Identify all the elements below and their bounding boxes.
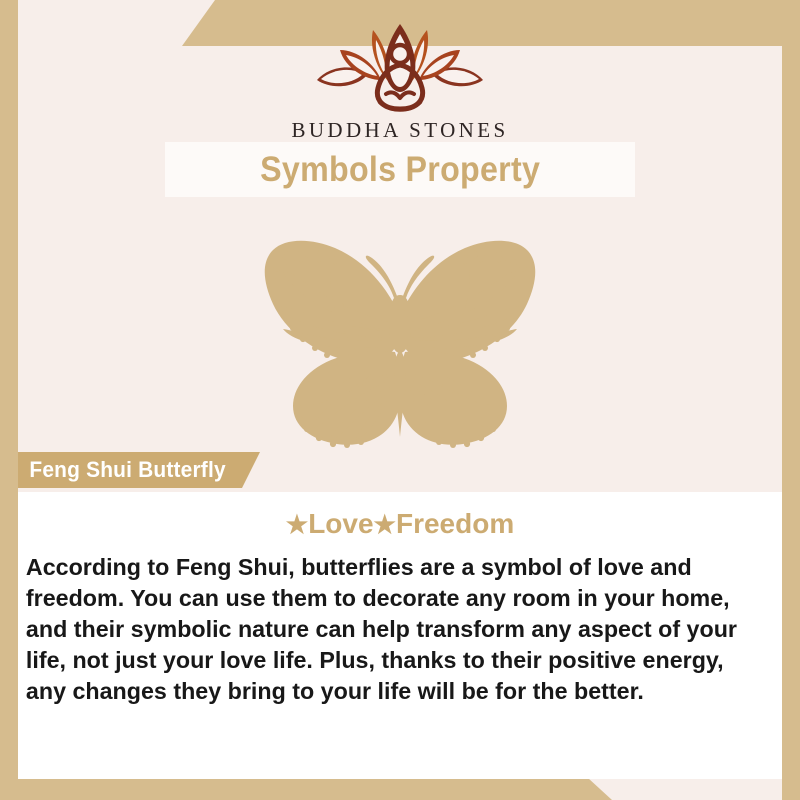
lotus-meditation-figure-icon — [307, 22, 493, 114]
subtitle-word-love: Love — [308, 508, 373, 539]
page-title: Symbols Property — [260, 150, 540, 190]
promo-page: BUDDHA STONES Symbols Property — [0, 0, 800, 800]
butterfly-icon — [215, 234, 585, 449]
star-icon-left: ★ — [286, 511, 308, 539]
feng-shui-butterfly-tag: Feng Shui Butterfly — [18, 452, 260, 488]
title-banner: Symbols Property — [165, 142, 635, 197]
tag-label: Feng Shui Butterfly — [18, 457, 226, 483]
star-icon-middle: ★ — [374, 511, 396, 539]
description-text: According to Feng Shui, butterflies are … — [18, 540, 774, 707]
brand-logo-block: BUDDHA STONES — [0, 22, 800, 143]
gold-bottom-border — [0, 778, 800, 800]
description-card: ★Love★Freedom According to Feng Shui, bu… — [18, 492, 782, 779]
brand-wordmark: BUDDHA STONES — [0, 118, 800, 143]
subtitle-word-freedom: Freedom — [396, 508, 514, 539]
butterfly-illustration — [215, 234, 585, 449]
subtitle-love-freedom: ★Love★Freedom — [18, 492, 782, 540]
